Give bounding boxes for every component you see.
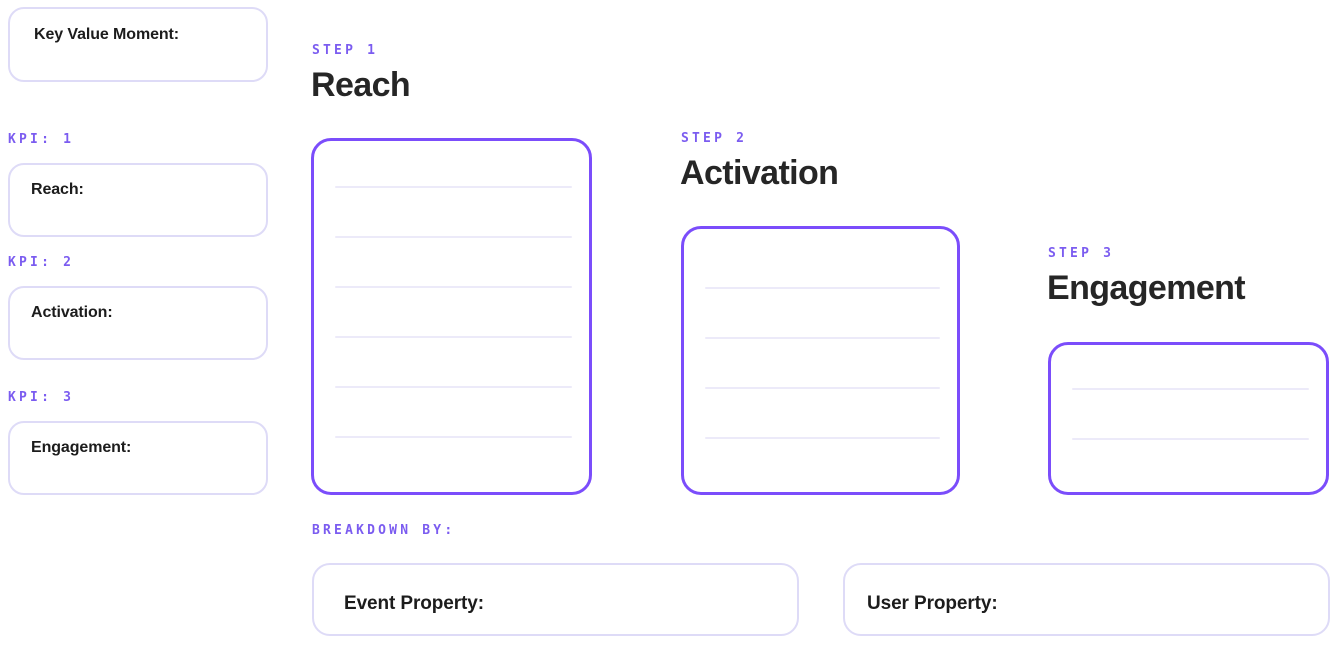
step-3-eyebrow: STEP 3: [1048, 247, 1114, 260]
note-rule: [1072, 388, 1309, 390]
kpi-3-label: Engagement:: [31, 439, 131, 457]
note-rule: [335, 336, 572, 338]
key-value-moment-card[interactable]: Key Value Moment:: [8, 7, 268, 82]
note-rule: [705, 387, 940, 389]
step-1-title: Reach: [311, 68, 410, 104]
note-rule: [705, 287, 940, 289]
step-2-eyebrow: STEP 2: [681, 132, 747, 145]
note-rule: [335, 186, 572, 188]
note-rule: [335, 386, 572, 388]
note-rule: [1072, 438, 1309, 440]
step-1-eyebrow: STEP 1: [312, 44, 378, 57]
note-rule: [335, 286, 572, 288]
step-3-title: Engagement: [1047, 271, 1245, 307]
kpi-2-card[interactable]: Activation:: [8, 286, 268, 360]
key-value-moment-label: Key Value Moment:: [34, 26, 179, 44]
kpi-2-eyebrow: KPI: 2: [8, 256, 74, 269]
note-rule: [705, 437, 940, 439]
step-2-title: Activation: [680, 156, 838, 192]
event-property-card[interactable]: Event Property:: [312, 563, 799, 636]
user-property-label: User Property:: [867, 593, 998, 615]
kpi-3-eyebrow: KPI: 3: [8, 391, 74, 404]
kpi-1-card[interactable]: Reach:: [8, 163, 268, 237]
kpi-1-label: Reach:: [31, 181, 84, 199]
breakdown-by-eyebrow: BREAKDOWN BY:: [312, 524, 455, 537]
step-3-notes-card[interactable]: [1048, 342, 1329, 495]
event-property-label: Event Property:: [344, 593, 484, 615]
note-rule: [335, 436, 572, 438]
user-property-card[interactable]: User Property:: [843, 563, 1330, 636]
note-rule: [335, 236, 572, 238]
kpi-2-label: Activation:: [31, 304, 113, 322]
step-2-notes-card[interactable]: [681, 226, 960, 495]
step-1-notes-card[interactable]: [311, 138, 592, 495]
worksheet-canvas: Key Value Moment: KPI: 1 Reach: KPI: 2 A…: [0, 0, 1337, 646]
note-rule: [705, 337, 940, 339]
kpi-1-eyebrow: KPI: 1: [8, 133, 74, 146]
kpi-3-card[interactable]: Engagement:: [8, 421, 268, 495]
